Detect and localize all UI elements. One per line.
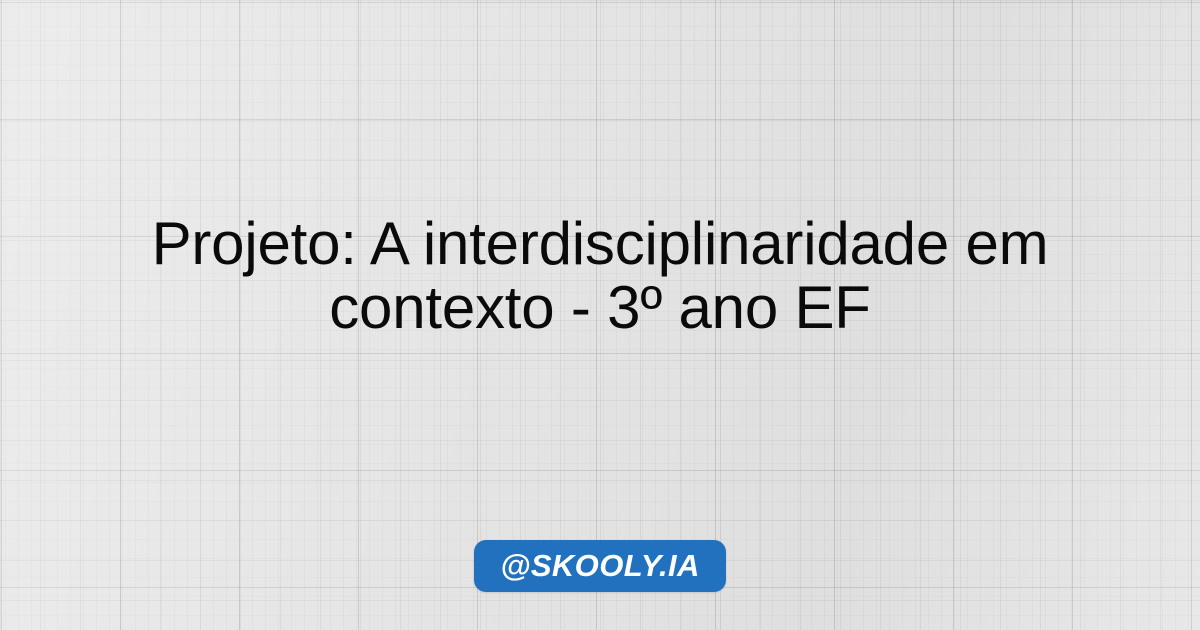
handle-badge: @SKOOLY.IA: [474, 540, 726, 592]
card-title: Projeto: A interdisciplinaridade em cont…: [85, 212, 1115, 340]
social-share-card: Projeto: A interdisciplinaridade em cont…: [0, 0, 1200, 630]
badge-row: @SKOOLY.IA: [0, 540, 1200, 592]
card-content: Projeto: A interdisciplinaridade em cont…: [0, 0, 1200, 630]
